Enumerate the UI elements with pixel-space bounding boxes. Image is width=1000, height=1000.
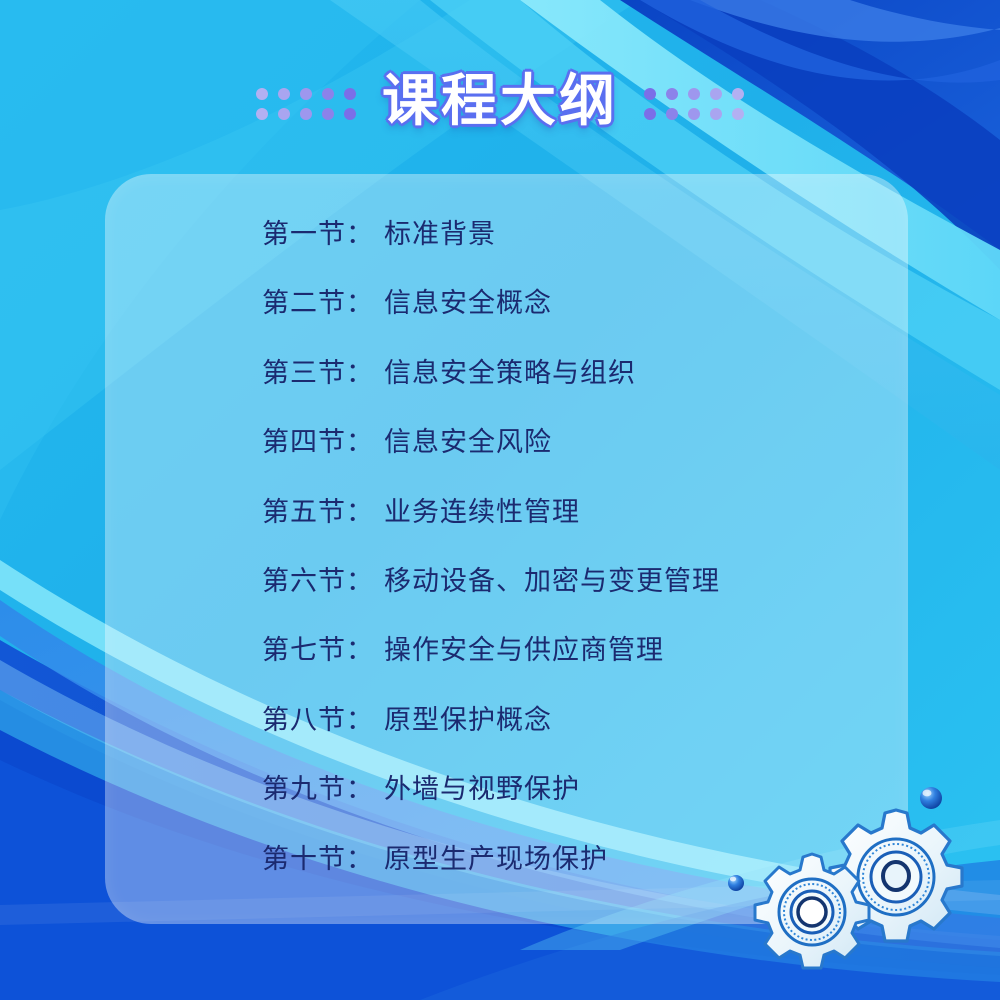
- slide-canvas: 课程大纲 第一节： 标准背景 第二节： 信息安全概念 第: [0, 0, 1000, 1000]
- dot: [666, 108, 678, 120]
- outline-item-title: 信息安全风险: [384, 420, 552, 459]
- outline-item-index: 第七节：: [262, 628, 384, 667]
- outline-item[interactable]: 第二节： 信息安全概念: [105, 281, 908, 350]
- outline-item[interactable]: 第九节： 外墙与视野保护: [105, 767, 908, 836]
- outline-item[interactable]: 第五节： 业务连续性管理: [105, 490, 908, 559]
- dot: [278, 108, 290, 120]
- outline-item-title: 业务连续性管理: [384, 490, 580, 529]
- outline-item-index: 第六节：: [262, 559, 384, 598]
- outline-item-index: 第二节：: [262, 281, 384, 320]
- outline-item-title: 原型生产现场保护: [384, 837, 608, 876]
- dot: [300, 108, 312, 120]
- outline-item[interactable]: 第七节： 操作安全与供应商管理: [105, 628, 908, 697]
- outline-item-title: 外墙与视野保护: [384, 767, 580, 806]
- outline-item[interactable]: 第三节： 信息安全策略与组织: [105, 351, 908, 420]
- outline-item-index: 第十节：: [262, 837, 384, 876]
- dot: [666, 88, 678, 100]
- outline-item-title: 操作安全与供应商管理: [384, 628, 664, 667]
- decorative-dot-grid-left: [256, 88, 356, 120]
- outline-item[interactable]: 第十节： 原型生产现场保护: [105, 837, 908, 906]
- outline-item-title: 原型保护概念: [384, 698, 552, 737]
- outline-item[interactable]: 第八节： 原型保护概念: [105, 698, 908, 767]
- decorative-dot-grid-right: [644, 88, 744, 120]
- dot: [688, 108, 700, 120]
- outline-item[interactable]: 第四节： 信息安全风险: [105, 420, 908, 489]
- dot: [256, 108, 268, 120]
- page-title: 课程大纲: [382, 74, 618, 130]
- outline-item-title: 标准背景: [384, 212, 496, 251]
- outline-panel: 第一节： 标准背景 第二节： 信息安全概念 第三节： 信息安全策略与组织 第四节…: [105, 174, 908, 924]
- dot: [732, 108, 744, 120]
- dot: [710, 108, 722, 120]
- dot: [322, 108, 334, 120]
- outline-list: 第一节： 标准背景 第二节： 信息安全概念 第三节： 信息安全策略与组织 第四节…: [105, 174, 908, 924]
- outline-item-index: 第一节：: [262, 212, 384, 251]
- dot: [644, 108, 656, 120]
- dot: [344, 88, 356, 100]
- outline-item-index: 第五节：: [262, 490, 384, 529]
- dot: [732, 88, 744, 100]
- outline-item-index: 第三节：: [262, 351, 384, 390]
- outline-item-index: 第九节：: [262, 767, 384, 806]
- dot: [300, 88, 312, 100]
- outline-item-title: 信息安全策略与组织: [384, 351, 636, 390]
- outline-item-index: 第八节：: [262, 698, 384, 737]
- outline-item-title: 信息安全概念: [384, 281, 552, 320]
- dot: [710, 88, 722, 100]
- dot: [256, 88, 268, 100]
- outline-item[interactable]: 第六节： 移动设备、加密与变更管理: [105, 559, 908, 628]
- dot: [688, 88, 700, 100]
- title-row: 课程大纲: [0, 62, 1000, 142]
- dot: [322, 88, 334, 100]
- outline-item-title: 移动设备、加密与变更管理: [384, 559, 720, 598]
- dot: [278, 88, 290, 100]
- outline-item[interactable]: 第一节： 标准背景: [105, 212, 908, 281]
- dot: [644, 88, 656, 100]
- outline-item-index: 第四节：: [262, 420, 384, 459]
- dot: [344, 108, 356, 120]
